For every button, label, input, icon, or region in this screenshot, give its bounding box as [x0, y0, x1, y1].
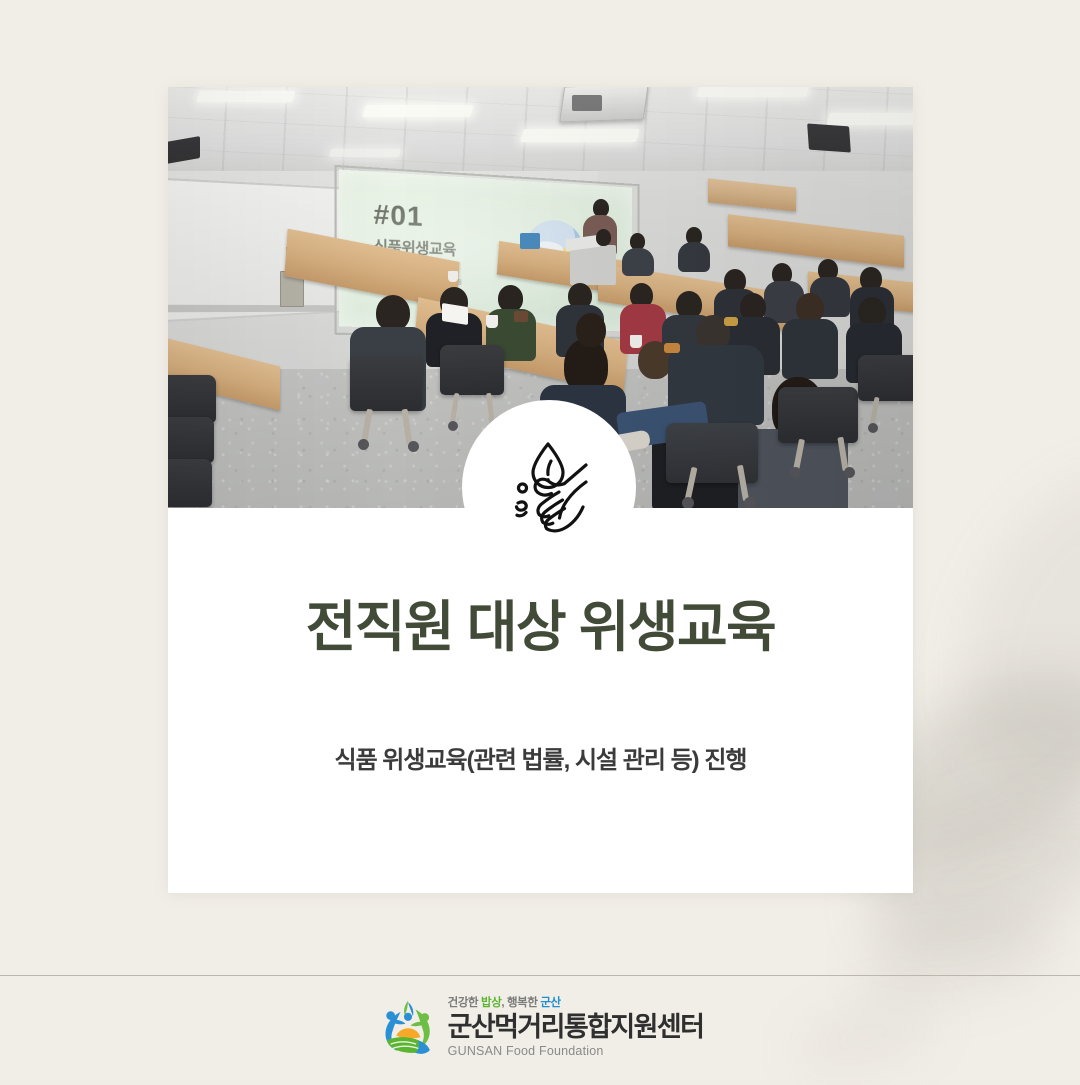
logo-tagline-highlight: 군산: [540, 997, 560, 1009]
chair: [168, 417, 214, 463]
page-subtitle: 식품 위생교육(관련 법률, 시설 관리 등) 진행: [168, 740, 913, 775]
chair-caster: [744, 497, 756, 508]
recycling-bin: [520, 233, 540, 249]
chair: [350, 355, 422, 411]
attendee-body: [622, 248, 654, 276]
leaf-shadow-decoration: [925, 443, 1080, 828]
attendee-head: [576, 313, 606, 347]
footer: 건강한 밥상, 행복한 군산 군산먹거리통합지원센터 GUNSAN Food F…: [0, 976, 1080, 1080]
ceiling-light: [826, 113, 913, 125]
chair-caster: [408, 441, 419, 452]
chair: [168, 375, 216, 423]
attendee-head: [596, 229, 611, 246]
podium: [570, 245, 616, 285]
whiteboard-tray: [168, 305, 335, 313]
paper-cup: [448, 271, 458, 282]
chair-caster: [790, 467, 801, 478]
logo-mark-icon: [377, 997, 439, 1059]
wall-speaker: [807, 123, 851, 152]
attendee-body: [782, 319, 838, 379]
chair: [778, 387, 858, 443]
content-card: #01 식품위생교육 · 기준 식품위생법 기본 · 위생관리 및 식품안전관리…: [168, 87, 913, 893]
chair-caster: [682, 497, 694, 508]
attendee-head: [498, 285, 523, 312]
ceiling-light: [520, 129, 640, 142]
chair: [858, 355, 913, 401]
logo-tagline-part: 건강한: [448, 997, 481, 1009]
chair: [168, 459, 212, 507]
chair-caster: [868, 423, 878, 433]
food-item: [664, 343, 680, 353]
food-item: [514, 311, 528, 322]
logo-tagline-part: , 행복한: [501, 997, 540, 1009]
handwashing-icon-badge: [462, 400, 636, 574]
ceiling-light: [329, 149, 401, 157]
organization-name-ko: 군산먹거리통합지원센터: [448, 1013, 704, 1043]
chair-caster: [358, 439, 369, 450]
organization-logo: 건강한 밥상, 행복한 군산 군산먹거리통합지원센터 GUNSAN Food F…: [377, 997, 704, 1059]
page-title: 전직원 대상 위생교육: [168, 594, 913, 660]
organization-name-en: GUNSAN Food Foundation: [448, 1045, 704, 1058]
chair: [440, 345, 504, 395]
logo-tagline-highlight: 밥상: [481, 997, 501, 1009]
paper-cup: [630, 335, 642, 348]
chair-caster: [844, 467, 855, 478]
attendee-head: [376, 295, 410, 331]
logo-tagline: 건강한 밥상, 행복한 군산: [448, 998, 704, 1010]
attendee-body: [678, 242, 710, 272]
chair-caster: [448, 421, 458, 431]
projector-lens: [572, 95, 602, 111]
logo-text-block: 건강한 밥상, 행복한 군산 군산먹거리통합지원센터 GUNSAN Food F…: [448, 998, 704, 1058]
ceiling-light: [196, 91, 295, 102]
ceiling-light: [696, 87, 809, 97]
handwashing-icon: [493, 431, 605, 543]
paper-cup: [486, 315, 498, 328]
food-item: [724, 317, 738, 326]
ceiling-light: [362, 105, 473, 117]
